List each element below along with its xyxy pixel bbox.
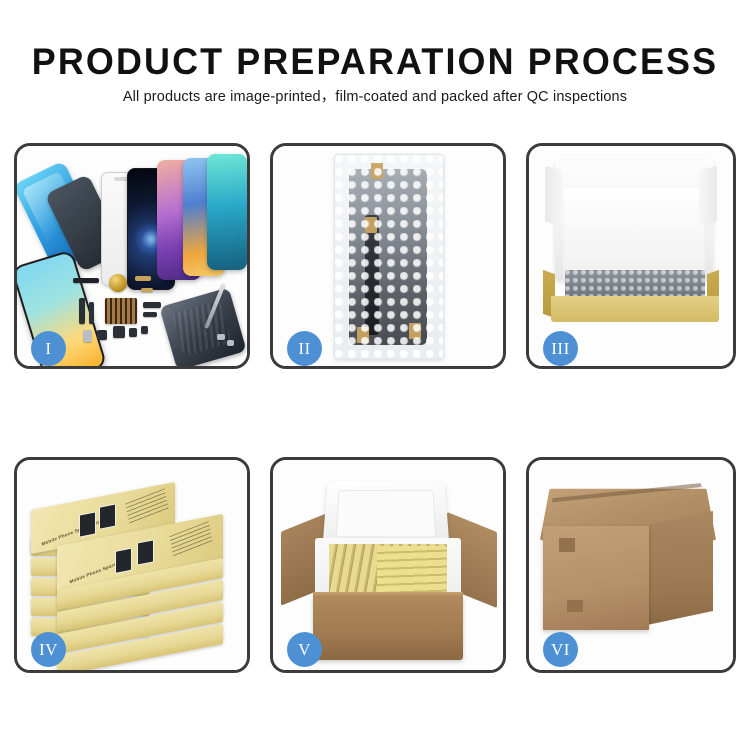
small-part [89,302,94,324]
carton-front-panel [313,596,463,660]
small-part [97,330,107,340]
coin-part-icon [109,274,127,292]
box-product-photo [99,503,116,529]
step-panel-5[interactable]: V [270,457,506,673]
step-panel-2[interactable]: II [270,143,506,369]
bubble-wrap-bag [334,154,444,360]
yellow-boxes-second-row [377,546,447,596]
box-product-photo [115,548,132,574]
carton-tape-lower [567,600,583,612]
page-header: PRODUCT PREPARATION PROCESS All products… [0,0,750,130]
small-part [143,302,161,308]
step-badge-3: III [543,331,578,366]
bubble-texture [335,155,443,359]
small-part [141,288,153,292]
gray-bubble-wrap-contents [565,270,705,298]
step-panel-6[interactable]: VI [526,457,736,673]
small-part [141,326,148,334]
box-product-photo [79,511,96,537]
box-flap-left [545,166,563,226]
teal-gradient-phone [207,154,247,270]
small-part [227,340,234,346]
small-part [79,298,85,324]
carton-side-face [647,511,713,625]
box-spec-lines [125,488,168,524]
step-panel-3[interactable]: III [526,143,736,369]
small-part [113,326,125,338]
step-badge-5: V [287,632,322,667]
chip-grid-part [105,298,137,324]
box-flap-right [699,166,717,226]
steps-grid: I II [14,143,736,673]
page-title: PRODUCT PREPARATION PROCESS [11,42,739,82]
step-badge-1: I [31,331,66,366]
step-panel-4[interactable]: Mobile Phone Spare Parts Mobile Phone Sp… [14,457,250,673]
box-product-photo [137,539,154,565]
small-part [143,312,157,317]
small-part [73,278,99,283]
step-badge-6: VI [543,632,578,667]
small-part [217,334,225,340]
step-panel-1[interactable]: I [14,143,250,369]
small-part [83,330,92,342]
small-part [135,276,151,281]
step-badge-2: II [287,331,322,366]
white-foam-lid [555,160,713,280]
box-spec-lines [169,521,212,557]
box-front-panel [551,296,719,322]
step-badge-4: IV [31,632,66,667]
page-subtitle: All products are image-printed，film-coat… [0,88,750,106]
carton-tape-upper [559,538,575,552]
phone-back-housing [159,287,246,366]
small-part [129,328,137,337]
